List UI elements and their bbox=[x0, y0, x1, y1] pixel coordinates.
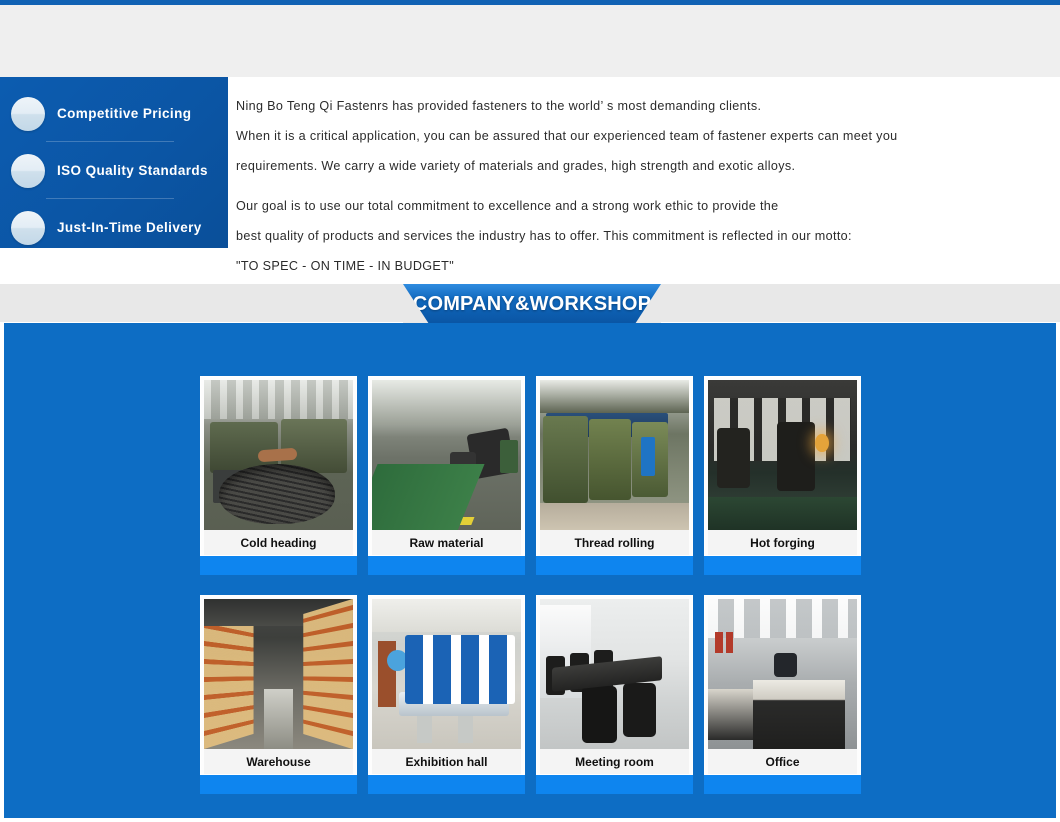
cold-heading-photo bbox=[204, 380, 353, 530]
gallery-right-margin bbox=[1056, 323, 1060, 822]
circle-bullet-icon bbox=[11, 211, 45, 245]
workshop-gallery: Cold heading Raw material bbox=[4, 323, 1056, 818]
intro-section: Competitive Pricing ISO Quality Standard… bbox=[0, 77, 1060, 272]
circle-bullet-icon bbox=[11, 154, 45, 188]
card-frame: Cold heading bbox=[200, 376, 357, 556]
section-title: COMPANY&WORKSHOP bbox=[413, 293, 651, 316]
card-accent-bar bbox=[536, 556, 693, 575]
raw-material-photo bbox=[372, 380, 521, 530]
gallery-card-cold-heading[interactable]: Cold heading bbox=[200, 376, 357, 575]
gallery-card-office[interactable]: Office bbox=[704, 595, 861, 794]
card-frame: Hot forging bbox=[704, 376, 861, 556]
feature-label: Just-In-Time Delivery bbox=[57, 220, 202, 235]
meeting-room-photo bbox=[540, 599, 689, 749]
intro-line: Our goal is to use our total commitment … bbox=[236, 191, 1048, 221]
card-frame: Warehouse bbox=[200, 595, 357, 775]
office-photo bbox=[708, 599, 857, 749]
feature-item-just-in-time-delivery[interactable]: Just-In-Time Delivery bbox=[0, 199, 228, 256]
intro-line: requirements. We carry a wide variety of… bbox=[236, 151, 1048, 181]
gallery-card-warehouse[interactable]: Warehouse bbox=[200, 595, 357, 794]
intro-copy: Ning Bo Teng Qi Fastenrs has provided fa… bbox=[236, 91, 1048, 281]
feature-item-iso-quality-standards[interactable]: ISO Quality Standards bbox=[0, 142, 228, 199]
card-caption: Cold heading bbox=[204, 530, 353, 555]
section-banner-ribbon: COMPANY&WORKSHOP bbox=[403, 284, 661, 324]
feature-label: ISO Quality Standards bbox=[57, 163, 208, 178]
card-caption: Exhibition hall bbox=[372, 749, 521, 774]
card-frame: Office bbox=[704, 595, 861, 775]
card-frame: Raw material bbox=[368, 376, 525, 556]
gallery-left-margin bbox=[0, 323, 4, 822]
intro-line: When it is a critical application, you c… bbox=[236, 121, 1048, 151]
card-frame: Meeting room bbox=[536, 595, 693, 775]
card-frame: Exhibition hall bbox=[368, 595, 525, 775]
card-accent-bar bbox=[368, 775, 525, 794]
card-accent-bar bbox=[536, 775, 693, 794]
card-accent-bar bbox=[200, 556, 357, 575]
card-accent-bar bbox=[704, 775, 861, 794]
warehouse-photo bbox=[204, 599, 353, 749]
feature-highlights-panel: Competitive Pricing ISO Quality Standard… bbox=[0, 77, 228, 248]
card-caption: Meeting room bbox=[540, 749, 689, 774]
card-caption: Office bbox=[708, 749, 857, 774]
feature-label: Competitive Pricing bbox=[57, 106, 191, 121]
gallery-card-raw-material[interactable]: Raw material bbox=[368, 376, 525, 575]
card-accent-bar bbox=[704, 556, 861, 575]
card-caption: Hot forging bbox=[708, 530, 857, 555]
thread-rolling-photo bbox=[540, 380, 689, 530]
card-frame: Thread rolling bbox=[536, 376, 693, 556]
circle-bullet-icon bbox=[11, 97, 45, 131]
intro-line: "TO SPEC - ON TIME - IN BUDGET" bbox=[236, 251, 1048, 281]
card-accent-bar bbox=[368, 556, 525, 575]
gallery-card-meeting-room[interactable]: Meeting room bbox=[536, 595, 693, 794]
gallery-card-thread-rolling[interactable]: Thread rolling bbox=[536, 376, 693, 575]
card-caption: Thread rolling bbox=[540, 530, 689, 555]
card-caption: Warehouse bbox=[204, 749, 353, 774]
page-root: Competitive Pricing ISO Quality Standard… bbox=[0, 0, 1060, 822]
hero-banner-strip bbox=[0, 5, 1060, 77]
card-accent-bar bbox=[200, 775, 357, 794]
feature-item-competitive-pricing[interactable]: Competitive Pricing bbox=[0, 85, 228, 142]
gallery-card-hot-forging[interactable]: Hot forging bbox=[704, 376, 861, 575]
intro-line: best quality of products and services th… bbox=[236, 221, 1048, 251]
gallery-card-exhibition-hall[interactable]: Exhibition hall bbox=[368, 595, 525, 794]
intro-line: Ning Bo Teng Qi Fastenrs has provided fa… bbox=[236, 91, 1048, 121]
exhibition-hall-photo bbox=[372, 599, 521, 749]
card-caption: Raw material bbox=[372, 530, 521, 555]
hot-forging-photo bbox=[708, 380, 857, 530]
